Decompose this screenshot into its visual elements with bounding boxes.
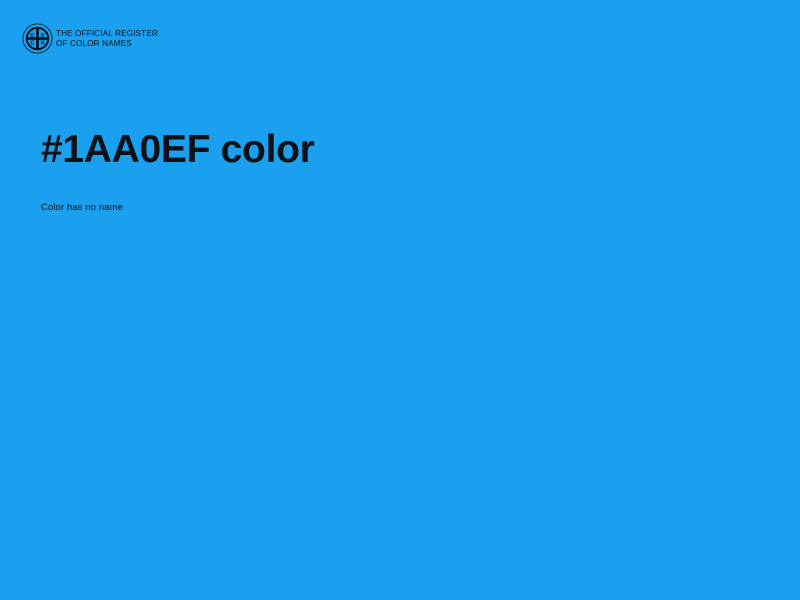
brand-wordmark-line-1: THE OFFICIAL REGISTER [56, 29, 158, 39]
svg-text:O: O [30, 33, 34, 39]
svg-text:R: R [41, 33, 45, 39]
official-register-seal-icon: O R C N [22, 23, 53, 54]
brand-wordmark-line-2: OF COLOR NAMES [56, 39, 158, 49]
color-name-status: Color has no name [41, 173, 741, 214]
svg-text:N: N [41, 40, 45, 46]
brand-wordmark: THE OFFICIAL REGISTER OF COLOR NAMES [56, 28, 158, 49]
brand-lockup[interactable]: O R C N THE OFFICIAL REGISTER OF COLOR N… [22, 23, 158, 54]
color-page: O R C N THE OFFICIAL REGISTER OF COLOR N… [0, 0, 800, 600]
page-title: #1AA0EF color [41, 126, 741, 173]
color-info-block: #1AA0EF color Color has no name [41, 126, 741, 214]
svg-text:C: C [30, 40, 34, 46]
